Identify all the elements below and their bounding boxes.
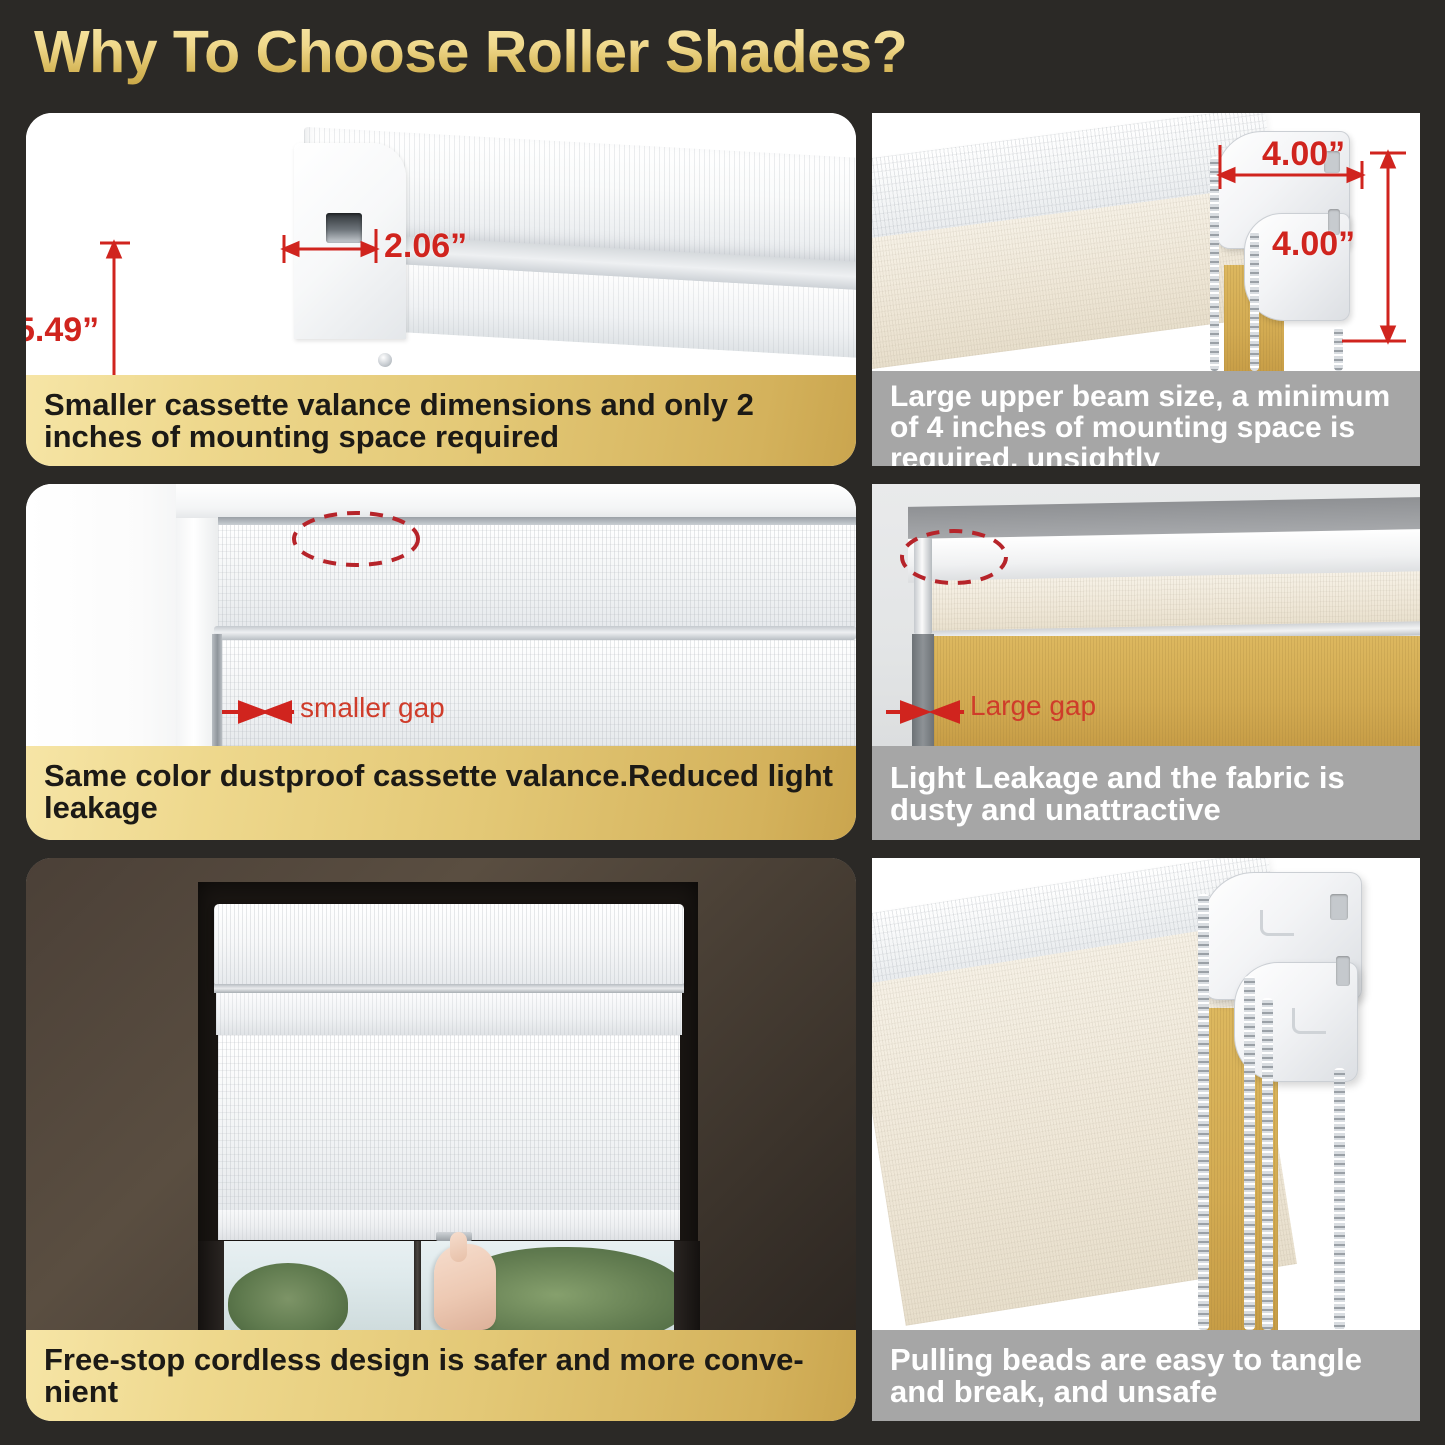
bead-chain-middle [1250,231,1259,371]
cassette-valance-face [218,525,856,629]
roller-shade-fabric [218,1035,680,1211]
panel-good-smaller-gap: smaller gap Same color dustproof cassett… [26,484,856,840]
panel-image-light-leakage: Large gap [872,484,1420,746]
annotation-beam-height: 4.00” [1272,225,1355,264]
panel-bad-pull-beads: Pulling beads are easy to tangle and bre… [872,858,1420,1421]
annotation-beam-width: 4.00” [1262,135,1345,174]
caption-bad-pull-beads: Pulling beads are easy to tangle and bre… [872,1330,1420,1421]
annotation-width-dimension: 2.06” [384,227,467,266]
panel-bad-light-leakage: Large gap Light Leakage and the fabric i… [872,484,1420,840]
panel-image-large-beam: 4.00” 4.00” [872,113,1420,371]
caption-line-2: nient [44,1374,118,1409]
end-cap-screw-small-icon [378,353,392,367]
bracket-arrow-icon-bottom [1292,1008,1326,1034]
panel-bad-large-beam: 4.00” 4.00” Large upper beam size, a min… [872,113,1420,466]
caption-good-smaller-gap: Same color dustproof cassette valance.Re… [26,746,856,840]
panel-image-pull-beads [872,858,1420,1330]
window-jamb-left [198,1241,224,1330]
cassette-head-rail [218,517,856,525]
pull-bead-chain-middle-a [1244,976,1255,1330]
pull-bead-chain-right [1334,1068,1345,1330]
valance-groove [214,984,684,993]
annotation-large-gap: Large gap [970,690,1096,722]
panel-good-cordless: Free-stop cordless design is safer and m… [26,858,856,1421]
gap-strip-small [212,634,222,746]
bead-chain-left [1210,157,1219,371]
window-jamb-right [674,1241,700,1330]
caption-bad-light-leakage: Light Leakage and the fabric is dusty an… [872,746,1420,840]
valance-bottom-lip [214,626,856,640]
caption-good-cassette-dimensions: Smaller cassette valance dimensions and … [26,375,856,466]
panel-image-cordless [26,858,856,1330]
bracket-mount-slot-icon [1330,894,1348,920]
bead-chain-right [1334,327,1343,371]
panel-image-cassette-dimensions: 2.06” 5.49” [26,113,856,375]
gap-strip-large [912,634,934,746]
pull-bead-chain-middle-b [1262,998,1273,1330]
infographic-page: Why To Choose Roller Shades? [0,0,1445,1445]
panel-image-smaller-gap: smaller gap [26,484,856,746]
page-title: Why To Choose Roller Shades? [34,18,907,86]
bracket-clip [914,538,932,634]
bracket-arrow-icon-top [1260,910,1294,936]
pull-bead-chain-left [1198,894,1209,1330]
caption-line-1: Free-stop cordless design is safer and m… [44,1342,804,1377]
window-mullion [414,1241,421,1330]
annotation-height-dimension: 5.49” [26,311,99,350]
caption-bad-large-beam: Large upper beam size, a minimum of 4 in… [872,371,1420,466]
window-frame-top-molding [176,484,856,518]
finger-illustration [450,1232,467,1262]
cordless-cassette-valance [214,904,684,988]
tree-foliage-left [228,1263,348,1330]
caption-good-cordless: Free-stop cordless design is safer and m… [26,1330,856,1421]
bracket-mount-slot-lower-icon [1336,956,1350,986]
mechanism-slot-icon [326,213,362,243]
annotation-smaller-gap: smaller gap [300,692,445,724]
valance-lower-face [216,993,682,1035]
panel-good-cassette-dimensions: 2.06” 5.49” Smaller cassette valance dim… [26,113,856,466]
